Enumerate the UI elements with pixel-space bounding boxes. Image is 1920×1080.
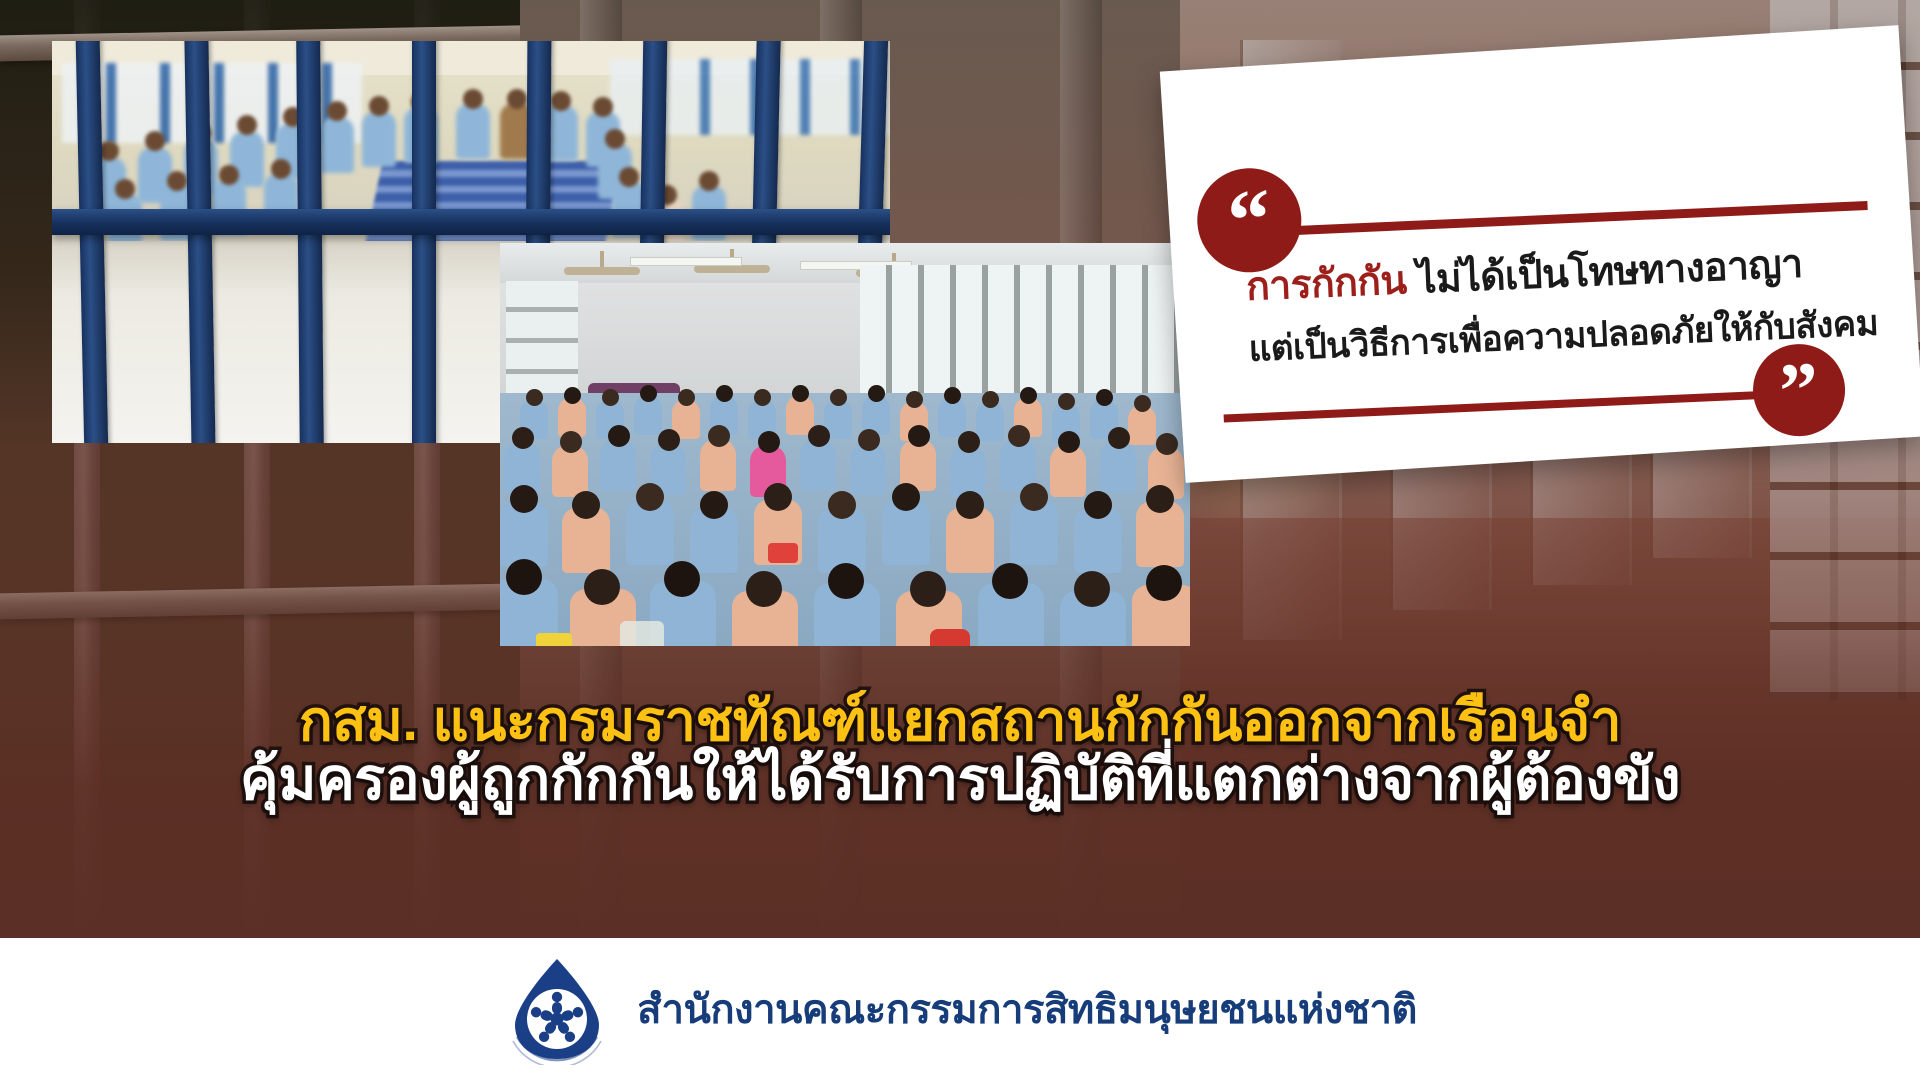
red-cloth: [768, 543, 798, 563]
quote-rule-bottom: [1224, 388, 1824, 422]
ceiling-light: [630, 257, 742, 266]
quote-card: “ การกักกัน ไม่ได้เป็นโทษทางอาญา แต่เป็น…: [1160, 25, 1920, 483]
prison-bar: [412, 41, 436, 443]
quote-rule-top: [1290, 201, 1868, 235]
red-basin: [930, 629, 970, 646]
headline: กสม. แนะกรมราชทัณฑ์แยกสถานกักกันออกจากเร…: [0, 692, 1920, 811]
quote-line1-highlight: การกักกัน: [1245, 259, 1407, 309]
infographic-poster: “ การกักกัน ไม่ได้เป็นโทษทางอาญา แต่เป็น…: [0, 0, 1920, 1080]
nhrct-teardrop-logo: [503, 953, 611, 1065]
quote-line1-rest: ไม่ได้เป็นโทษทางอาญา: [1406, 243, 1804, 303]
teardrop-icon: [503, 953, 611, 1065]
prison-crossbar: [52, 209, 890, 235]
headline-line-1: กสม. แนะกรมราชทัณฑ์แยกสถานกักกันออกจากเร…: [0, 692, 1920, 750]
photo-crowded-womens-prison-room: [500, 243, 1190, 646]
footer-bar: สำนักงานคณะกรรมการสิทธิมนุษยชนแห่งชาติ: [0, 938, 1920, 1080]
close-quote-icon: ”: [1750, 341, 1848, 439]
ceiling-fan: [694, 265, 770, 273]
plastic-bag: [620, 621, 664, 646]
photo2-inmate-crowd: [500, 393, 1190, 646]
yellow-bag: [536, 633, 572, 646]
prison-bar: [296, 41, 324, 443]
headline-line-2: คุ้มครองผู้ถูกกักกันให้ได้รับการปฏิบัติท…: [0, 750, 1920, 810]
organization-name: สำนักงานคณะกรรมการสิทธิมนุษยชนแห่งชาติ: [637, 977, 1417, 1041]
ceiling-fan: [564, 267, 640, 275]
